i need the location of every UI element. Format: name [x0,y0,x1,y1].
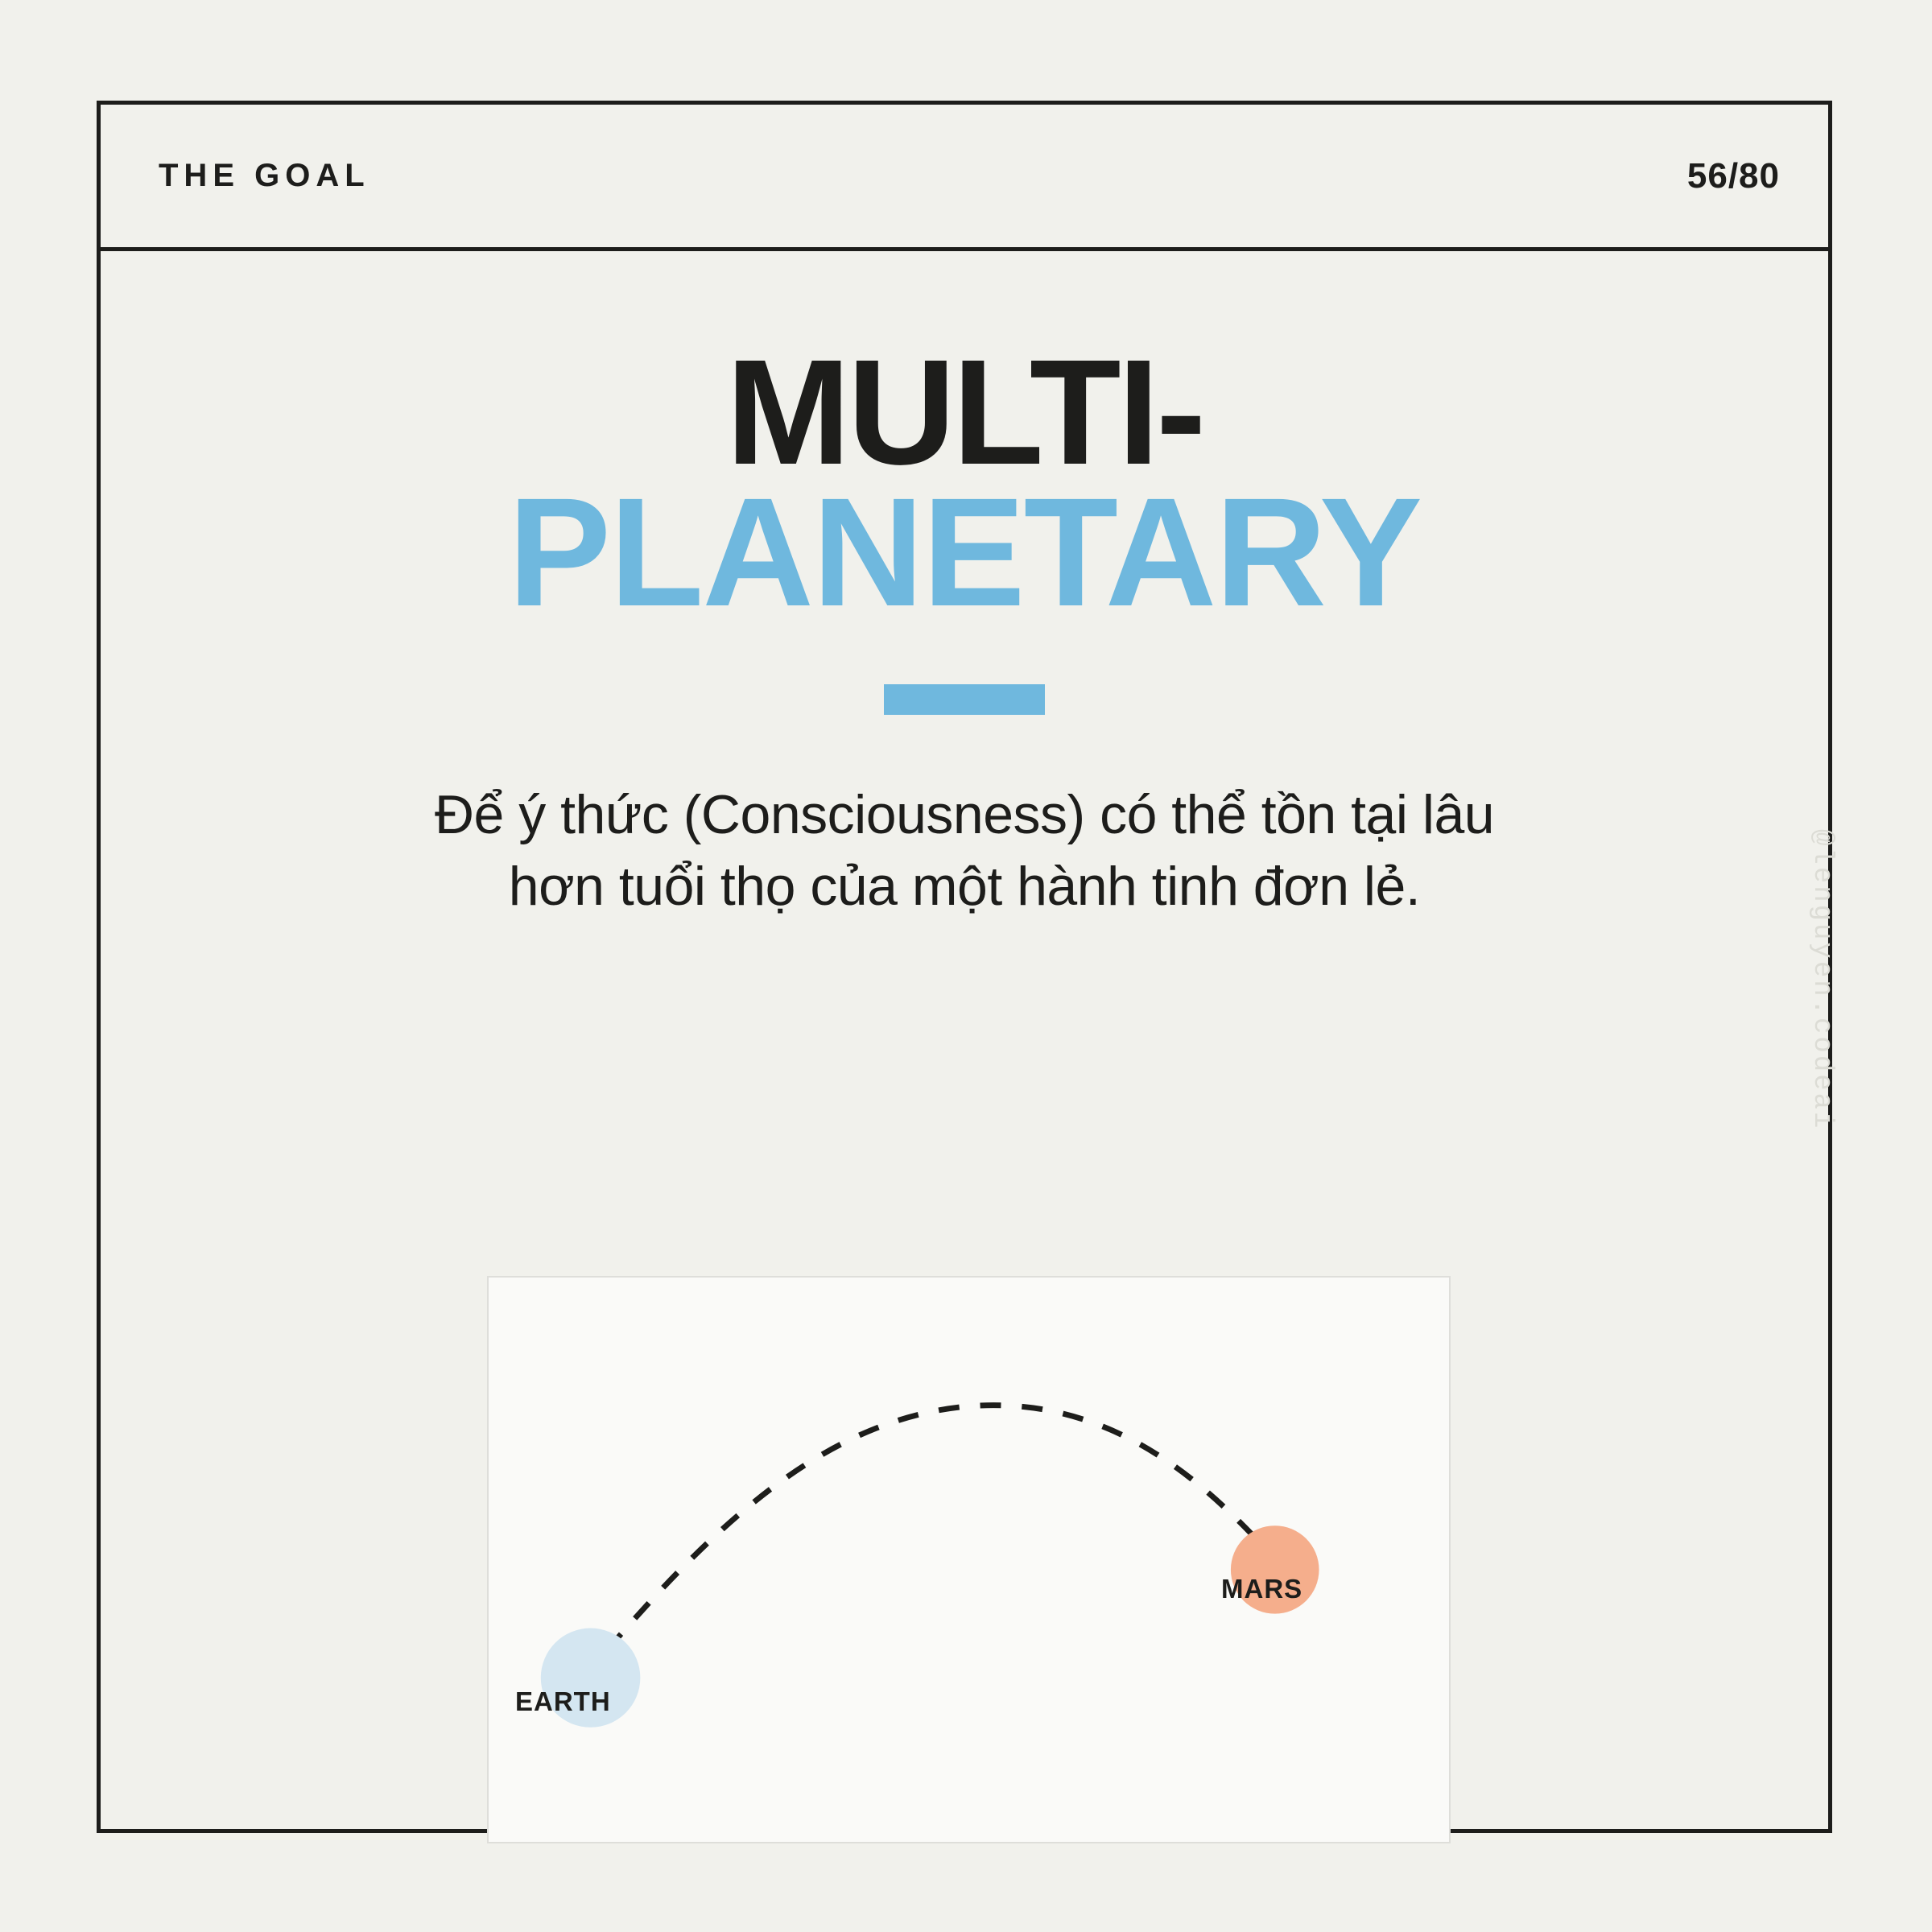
title-line-primary: MULTI- [508,344,1421,481]
slide-content: MULTI- PLANETARY Để ý thức (Consciousnes… [101,251,1828,1829]
slide-header: THE GOAL 56/80 [101,105,1828,251]
earth-label: EARTH [515,1686,611,1717]
title-line-accent: PLANETARY [508,481,1421,624]
page-counter: 56/80 [1687,156,1780,196]
body-line-1: Để ý thức (Consciousness) có thể tồn tại… [435,779,1494,852]
trajectory-path [608,1406,1259,1650]
watermark: @lenguyen.codeai [1806,829,1837,1130]
mars-label: MARS [1221,1574,1302,1604]
body-line-2: hơn tuổi thọ của một hành tinh đơn lẻ. [435,851,1494,923]
header-kicker: THE GOAL [159,158,370,194]
accent-divider [884,684,1045,715]
diagram-canvas [489,1278,1449,1842]
slide-card: THE GOAL 56/80 MULTI- PLANETARY Để ý thứ… [97,101,1832,1833]
body-paragraph: Để ý thức (Consciousness) có thể tồn tại… [435,779,1494,924]
page-title: MULTI- PLANETARY [508,344,1421,624]
transfer-orbit-diagram: EARTH MARS [487,1276,1451,1843]
